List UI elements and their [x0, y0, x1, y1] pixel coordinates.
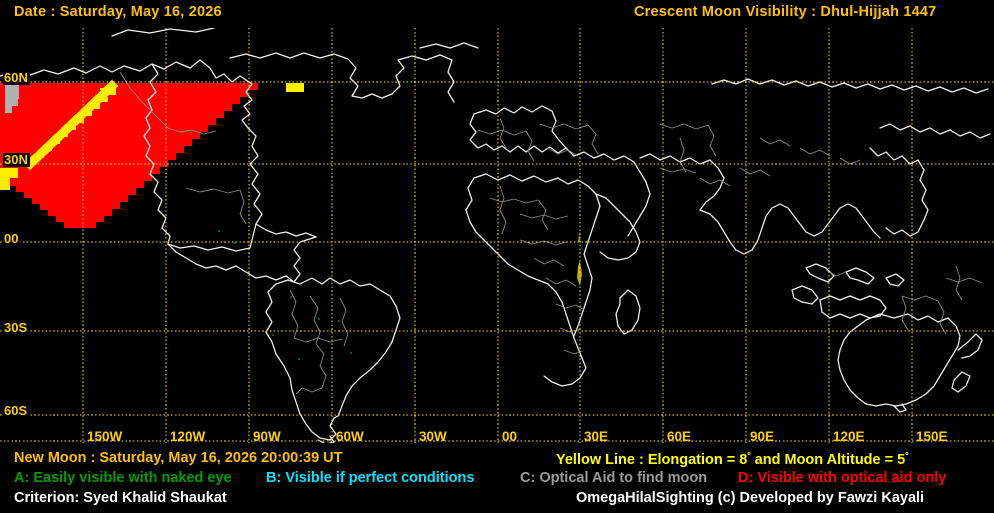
- developer-credit: OmegaHilalSighting (c) Developed by Fawz…: [576, 490, 924, 506]
- lat-label-30s: 30S: [3, 321, 29, 335]
- header-bar: Date : Saturday, May 16, 2026 Crescent M…: [0, 0, 994, 28]
- header-date-label: Date : Saturday, May 16, 2026: [14, 4, 222, 20]
- lon-label-00: 00: [502, 429, 517, 444]
- lon-label-60e: 60E: [667, 429, 691, 444]
- coastlines-south-america: [266, 278, 400, 443]
- legend-zone-c: C: Optical Aid to find moon: [520, 470, 707, 486]
- new-moon-label: New Moon : Saturday, May 16, 2026 20:00:…: [14, 450, 343, 466]
- lon-label-60w: 60W: [336, 429, 364, 444]
- lon-label-90e: 90E: [750, 429, 774, 444]
- lon-label-30e: 30E: [584, 429, 608, 444]
- map-canvas: [0, 28, 994, 443]
- world-map[interactable]: 60N 30N 00 30S 60S: [0, 28, 994, 443]
- lon-label-120e: 120E: [833, 429, 865, 444]
- crescent-visibility-map-app: Date : Saturday, May 16, 2026 Crescent M…: [0, 0, 994, 513]
- lat-label-60s: 60S: [3, 404, 29, 418]
- degree-symbol-2: º: [905, 450, 908, 460]
- footer-row-legend: A: Easily visible with naked eye B: Visi…: [0, 470, 994, 490]
- legend-zone-a: A: Easily visible with naked eye: [14, 470, 232, 486]
- lat-label-60n: 60N: [3, 71, 30, 85]
- legend-zone-b: B: Visible if perfect conditions: [266, 470, 474, 486]
- yellow-line-note-mid: and Moon Altitude = 5: [751, 452, 906, 468]
- lat-label-00: 00: [3, 232, 20, 246]
- yellow-line-note: Yellow Line : Elongation = 8º and Moon A…: [556, 450, 908, 468]
- lon-label-150e: 150E: [916, 429, 948, 444]
- lon-label-30w: 30W: [419, 429, 447, 444]
- coastlines-eastern-hemisphere: [466, 79, 990, 386]
- legend-zone-d: D: Visible with optical aid only: [738, 470, 946, 486]
- coastlines-oceania: [792, 264, 982, 412]
- footer-row-credits: Criterion: Syed Khalid Shaukat OmegaHila…: [0, 490, 994, 510]
- lon-label-90w: 90W: [253, 429, 281, 444]
- lat-label-30n: 30N: [3, 153, 30, 167]
- lon-label-150w: 150W: [87, 429, 122, 444]
- lon-label-120w: 120W: [170, 429, 205, 444]
- criterion-label: Criterion: Syed Khalid Shaukat: [14, 490, 227, 506]
- footer-row-new-moon: New Moon : Saturday, May 16, 2026 20:00:…: [0, 450, 994, 470]
- footer: New Moon : Saturday, May 16, 2026 20:00:…: [0, 449, 994, 513]
- header-title: Crescent Moon Visibility : Dhul-Hijjah 1…: [634, 4, 936, 20]
- yellow-line-note-prefix: Yellow Line : Elongation = 8: [556, 452, 747, 468]
